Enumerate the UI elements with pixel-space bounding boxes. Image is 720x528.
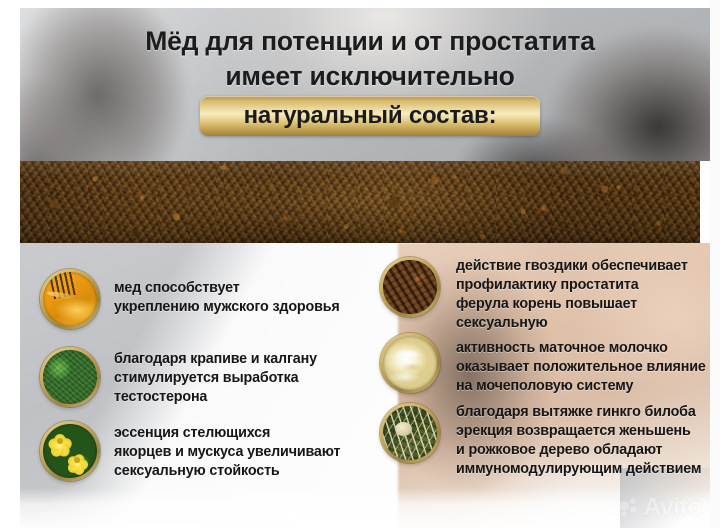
list-item: мед способствует укреплению мужского здо… [40,269,364,329]
highlight-band-label: натуральный состав: [244,102,497,130]
avito-logo-icon [619,498,639,518]
highlight-band: натуральный состав: [200,96,540,136]
ingredients-section: мед способствует укреплению мужского здо… [20,243,720,528]
nettle-leaf-icon [40,347,100,407]
ingredients-right-column: действие гвоздики обеспечивает профилакт… [372,243,720,528]
ginseng-root-icon [380,403,440,463]
ingredients-left-column: мед способствует укреплению мужского здо… [20,243,372,528]
clove-spice-icon [380,257,440,317]
list-item-label: активность маточное молочко оказывает по… [456,333,720,396]
list-item-label: действие гвоздики обеспечивает профилакт… [456,257,720,334]
honey-vignette-overlay [20,161,700,243]
honey-jar-icon [40,269,100,329]
list-item: действие гвоздики обеспечивает профилакт… [380,257,720,334]
royal-jelly-icon [380,333,440,393]
title-line-2: имеет исключительно [48,59,692,94]
list-item: активность маточное молочко оказывает по… [380,333,720,396]
list-item: эссенция стелющихся якорцев и мускуса ув… [40,421,364,481]
avito-watermark: Avito [619,495,702,520]
list-item-label: благодаря крапиве и калгану стимулируетс… [114,347,364,407]
advertisement-banner: Мёд для потенции и от простатита имеет и… [0,0,720,528]
list-item: благодаря вытяжке гинкго билоба эрекция … [380,403,720,480]
avito-watermark-label: Avito [643,495,702,520]
list-item-label: мед способствует укреплению мужского здо… [114,269,364,317]
frame-top-margin [0,0,720,8]
frame-left-margin [0,0,20,528]
hero-section: Мёд для потенции и от простатита имеет и… [20,8,720,161]
list-item-label: эссенция стелющихся якорцев и мускуса ув… [114,421,364,481]
tribulus-flower-icon [40,421,100,481]
frame-right-margin [710,0,720,528]
honey-texture-band [20,161,700,243]
list-item-label: благодаря вытяжке гинкго билоба эрекция … [456,403,720,480]
page-title: Мёд для потенции и от простатита имеет и… [20,24,720,94]
list-item: благодаря крапиве и калгану стимулируетс… [40,347,364,407]
title-line-1: Мёд для потенции и от простатита [145,26,595,56]
